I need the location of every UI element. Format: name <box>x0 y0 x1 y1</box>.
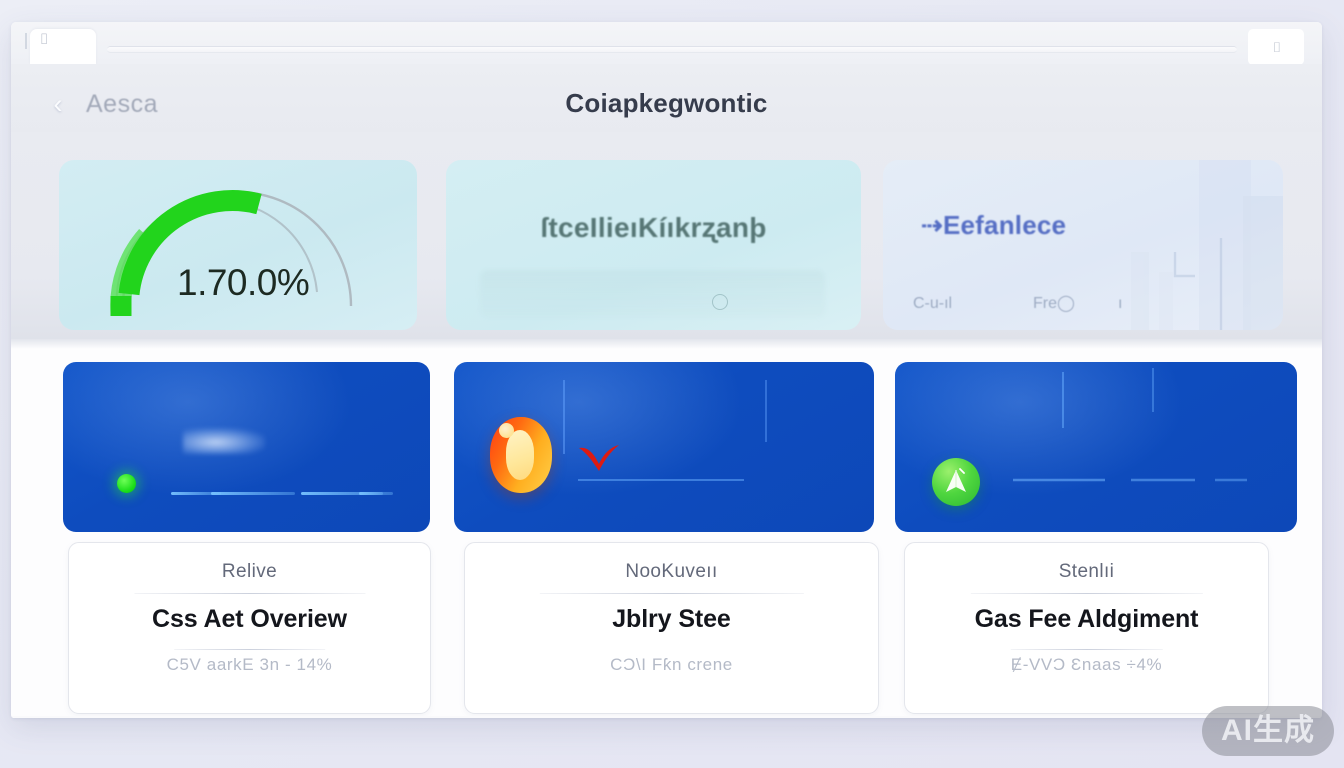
page-title: Coiapkegwontic <box>11 84 1322 122</box>
metric-card-balance-footer: C-u-ıl Fre◯ ı <box>883 292 1283 316</box>
metric-card-balance-title: ⇢Eefanlece <box>921 210 1241 241</box>
metric-card-headline-title: ſtceIlieıKíıkrʐanþ <box>446 212 861 244</box>
address-bar[interactable] <box>107 46 1237 53</box>
window-bottom-fade <box>11 716 1322 718</box>
status-dot-green-icon <box>117 474 136 493</box>
dash-line <box>211 492 295 495</box>
info-card-subtitle: C5V aarkE 3n - 14% <box>69 655 430 675</box>
info-card[interactable]: Relive Css Aet Overiew C5V aarkE 3n - 14… <box>68 542 431 714</box>
metric-card-headline[interactable]: ſtceIlieıKíıkrʐanþ <box>446 160 861 330</box>
menu-icon[interactable]: ⌷ <box>1270 38 1284 56</box>
panel-grid-lines <box>895 362 1297 532</box>
circle-indicator-icon <box>712 294 728 310</box>
section-divider <box>11 339 1322 349</box>
tab-favicon-icon: ⌷ <box>37 30 51 50</box>
info-card-label: Stenlıi <box>905 561 1268 583</box>
info-card-subtitle: Ɇ-VVƆ Ɛnaas ÷4% <box>905 655 1268 675</box>
ai-watermark: AI生成 <box>1202 706 1334 756</box>
info-card-label: NooKuveıı <box>465 561 878 583</box>
screen-root: ⌷ ⌷ ‹ Aesca Coiapkegwontic <box>0 0 1344 768</box>
browser-window: ⌷ ⌷ ‹ Aesca Coiapkegwontic <box>11 22 1322 718</box>
divider <box>1010 649 1162 650</box>
info-card-label: Relive <box>69 561 430 583</box>
red-chevron-icon <box>577 442 621 472</box>
balance-foot-1: C-u-ıl <box>913 292 952 316</box>
media-panel-send[interactable] <box>895 362 1297 532</box>
pill-inner <box>506 430 534 480</box>
dash-line <box>359 492 383 495</box>
gauge-value: 1.70.0% <box>177 260 377 306</box>
pill-highlight <box>499 423 514 438</box>
divider <box>539 593 803 594</box>
paper-plane-green-icon <box>932 458 980 506</box>
pill-badge-orange-icon <box>490 417 552 493</box>
info-card-title: Jblry Stee <box>465 605 878 634</box>
divider <box>134 593 365 594</box>
ghost-chart <box>480 270 825 318</box>
tab-divider-icon <box>25 33 27 49</box>
balance-foot-2: Fre◯ <box>1033 292 1075 316</box>
info-card-title: Css Aet Overiew <box>69 605 430 634</box>
metric-card-gauge[interactable]: 1.70.0% <box>59 160 417 330</box>
divider <box>970 593 1202 594</box>
paper-plane-glyph <box>943 468 969 496</box>
info-card[interactable]: Stenlıi Gas Fee Aldgiment Ɇ-VVƆ Ɛnaas ÷4… <box>904 542 1269 714</box>
cloud-icon <box>183 428 265 454</box>
balance-foot-3: ı <box>1118 292 1122 316</box>
info-card[interactable]: NooKuveıı Jblry Stee CƆ\I Fƙn crene <box>464 542 879 714</box>
info-card-title: Gas Fee Aldgiment <box>905 605 1268 634</box>
metric-card-balance[interactable]: ⇢Eefanlece C-u-ıl Fre◯ ı <box>883 160 1283 330</box>
gauge-chart: 1.70.0% <box>87 174 387 319</box>
divider <box>174 649 326 650</box>
browser-chrome: ⌷ ⌷ <box>11 22 1322 64</box>
media-panel-sky[interactable] <box>63 362 430 532</box>
info-card-subtitle: CƆ\I Fƙn crene <box>465 655 878 675</box>
metrics-section: 1.70.0% ſtceIlieıKíıkrʐanþ ⇢E <box>11 132 1322 339</box>
